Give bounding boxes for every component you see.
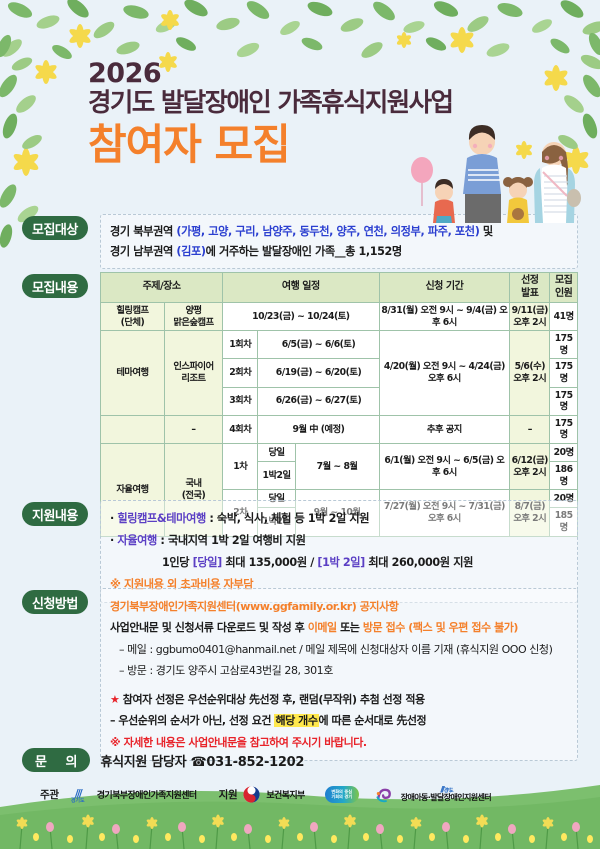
cell-free-1-count-b: 186명 (550, 462, 578, 490)
label-recruit-target-wrap: 모집대상 (22, 214, 100, 240)
support-overnight-amount: 최대 260,000원 지원 (365, 556, 473, 569)
cell-theme-session-4-count: 175명 (550, 415, 578, 443)
support-line-1-program: 힐링캠프&테마여행 (117, 512, 206, 525)
th-capacity-l2: 인원 (555, 288, 572, 299)
th-announcement-l1: 선정 (521, 275, 538, 286)
apply-priority-line: – 우선순위의 순서가 아닌, 선정 요건 해당 개수에 따른 순서대로 先선정 (110, 710, 568, 731)
table-row-healing-camp: 힐링캠프 (단체) 양평 맑은숲캠프 10/23(금) ~ 10/24(토) 8… (101, 303, 578, 331)
cell-theme-session-4-no: 4회차 (223, 415, 258, 443)
label-recruit-content: 모집내용 (22, 274, 88, 298)
th-apply-period: 신청 기간 (379, 273, 510, 303)
apply-priority-highlight: 해당 개수 (274, 714, 318, 727)
cell-theme-session-2-schedule: 6/19(금) ~ 6/20(토) (258, 359, 379, 387)
cell-free-1-announce: 6/12(금) 오후 2시 (510, 444, 550, 490)
cell-healing-schedule: 10/23(금) ~ 10/24(토) (223, 303, 379, 331)
cell-theme-name: 테마여행 (101, 331, 165, 416)
apply-email-line: – 메일 : ggbumo0401@hanmail.net / 메일 제목에 신… (110, 639, 568, 660)
th-capacity: 모집 인원 (550, 273, 578, 303)
cell-free-1-type-b: 1박2일 (258, 462, 295, 490)
footer-support-org: 보건복지부 (266, 788, 304, 801)
table-row-theme-4: – 4회차 9월 中 (예정) 추후 공지 – 175명 (101, 415, 578, 443)
poster-title-block: 2026 경기도 발달장애인 가족휴식지원사업 참여자 모집 (88, 60, 452, 170)
support-line-2-detail: : 국내지역 1박 2일 여행비 지원 (157, 534, 306, 547)
healing-name-l2: (단체) (121, 317, 145, 328)
recruit-table: 주제/장소 여행 일정 신청 기간 선정 발표 모집 인원 (100, 272, 578, 537)
target-north-cities: (가평, 고양, 구리, 남양주, 동두천, 양주, 연천, 의정부, 파주, … (176, 225, 479, 238)
free-1-announce-l1: 6/12(금) (512, 455, 548, 466)
label-contact: 문 의 (22, 748, 90, 772)
cell-theme-period: 4/20(월) 오전 9시 ~ 4/24(금) 오후 6시 (379, 331, 510, 416)
footer-support-label: 지원 (219, 787, 238, 802)
th-capacity-l1: 모집 (555, 275, 572, 286)
apply-visit-line: – 방문 : 경기도 양주시 고삼로43번길 28, 301호 (110, 660, 568, 681)
cell-theme-4-place: – (164, 415, 222, 443)
apply-process-visit: 방문 접수 (팩스 및 우편 접수 불가) (363, 621, 518, 634)
label-support-content: 지원내용 (22, 502, 88, 526)
healing-place-l2: 맑은숲캠프 (173, 317, 213, 328)
cell-theme-session-3-schedule: 6/26(금) ~ 6/27(토) (258, 387, 379, 415)
apply-website-line[interactable]: 경기북부장애인가족지원센터(www.ggfamily.or.kr) 공지사항 (110, 596, 568, 617)
cell-theme-session-1-schedule: 6/5(금) ~ 6/6(토) (258, 331, 379, 359)
table-header-row: 주제/장소 여행 일정 신청 기간 선정 발표 모집 인원 (101, 273, 578, 303)
gyeonggi-logo-sub: 경기도 (65, 799, 91, 804)
apply-process-prefix: 사업안내문 및 신청서류 다운로드 및 작성 후 (110, 621, 308, 634)
title-year: 2026 (88, 60, 452, 88)
target-south-cities: (김포) (176, 245, 205, 258)
apply-priority-prefix: – 우선순위의 순서가 아닌, 선정 요건 (110, 714, 274, 727)
support-line-3: 1인당 [당일] 최대 135,000원 / [1박 2일] 최대 260,00… (110, 552, 568, 574)
cell-theme-session-1-count: 175명 (550, 331, 578, 359)
cell-theme-announce: 5/6(수) 오후 2시 (510, 331, 550, 416)
target-north-suffix: 및 (479, 225, 492, 238)
contact-info: 휴식지원 담당자 ☎031-852-1202 (100, 751, 304, 770)
cell-theme-session-2-count: 175명 (550, 359, 578, 387)
section-contact: 문 의 휴식지원 담당자 ☎031-852-1202 (22, 748, 304, 772)
cell-healing-announce: 9/11(금) 오후 2시 (510, 303, 550, 331)
recruit-target-line-1: 경기 북부권역 (가평, 고양, 구리, 남양주, 동두천, 양주, 연천, 의… (110, 222, 568, 242)
footer-host-org: 경기북부장애인가족지원센터 (97, 788, 197, 801)
cell-free-1-type-a: 당일 (258, 444, 295, 462)
table-row-theme-1: 테마여행 인스파이어 리조트 1회차 6/5(금) ~ 6/6(토) 4/20(… (101, 331, 578, 359)
apply-process-line: 사업안내문 및 신청서류 다운로드 및 작성 후 이메일 또는 방문 접수 (팩… (110, 617, 568, 638)
support-overnight-tag: [1박 2일] (317, 556, 364, 569)
support-line-2: · 자율여행 : 국내지역 1박 2일 여행비 지원 (110, 530, 568, 552)
cell-theme-4-period: 추후 공지 (379, 415, 510, 443)
cell-free-1-schedule: 7월 ~ 8월 (295, 444, 379, 490)
cell-theme-4-name (101, 415, 165, 443)
support-line-2-program: 자율여행 (117, 534, 157, 547)
theme-announce-l1: 5/6(수) (515, 361, 545, 372)
cell-healing-place: 양평 맑은숲캠프 (164, 303, 222, 331)
cell-free-1-count-a: 20명 (550, 444, 578, 462)
apply-selection-line: ★ 참여자 선정은 우선순위대상 先선정 후, 랜덤(무작위) 추첨 선정 적용 (110, 689, 568, 710)
apply-process-email: 이메일 (308, 621, 337, 634)
cell-theme-session-3-no: 3회차 (223, 387, 258, 415)
cell-free-1-no: 1차 (223, 444, 258, 490)
footer-partner-block: /// 경기도 장애아동·발달장애인지원센터 (401, 786, 491, 802)
support-bullet-1: · (110, 512, 114, 525)
label-apply-method: 신청방법 (22, 590, 88, 614)
label-recruit-target: 모집대상 (22, 216, 88, 240)
label-apply-wrap: 신청방법 (22, 588, 100, 614)
apply-divider (110, 682, 568, 689)
cell-healing-name: 힐링캠프 (단체) (101, 303, 165, 331)
footer-host-label: 주관 (40, 787, 59, 802)
support-bullet-2: · (110, 534, 114, 547)
slogan-line-2: 기회의 경기 (331, 794, 352, 799)
section-apply-method: 신청방법 경기북부장애인가족지원센터(www.ggfamily.or.kr) 공… (22, 588, 578, 761)
support-daytrip-amount: 최대 135,000원 / (222, 556, 318, 569)
support-line-1-detail: : 숙박, 식사, 체험 등 1박 2일 지원 (206, 512, 369, 525)
healing-name-l1: 힐링캠프 (116, 305, 148, 316)
gyeonggi-logo-icon: /// 경기도 (65, 784, 91, 804)
cell-healing-period: 8/31(월) 오전 9시 ~ 9/4(금) 오후 6시 (379, 303, 510, 331)
cell-healing-count: 41명 (550, 303, 578, 331)
apply-selection-text: 참여자 선정은 우선순위대상 先선정 후, 랜덤(무작위) 추첨 선정 적용 (119, 693, 424, 706)
th-theme-place: 주제/장소 (101, 273, 223, 303)
th-announcement: 선정 발표 (510, 273, 550, 303)
free-1-announce-l2: 오후 2시 (513, 467, 546, 478)
cell-theme-session-3-count: 175명 (550, 387, 578, 415)
section-recruit-content: 모집내용 주제/장소 여행 일정 신청 기간 선정 발표 (22, 272, 578, 537)
healing-announce-l2: 오후 2시 (513, 317, 546, 328)
support-line-1: · 힐링캠프&테마여행 : 숙박, 식사, 체험 등 1박 2일 지원 (110, 508, 568, 530)
star-icon: ★ (110, 693, 119, 706)
poster-root: 2026 경기도 발달장애인 가족휴식지원사업 참여자 모집 (0, 0, 600, 849)
theme-announce-l2: 오후 2시 (513, 373, 546, 384)
apply-method-body: 경기북부장애인가족지원센터(www.ggfamily.or.kr) 공지사항 사… (100, 588, 578, 761)
taeguk-icon (243, 786, 260, 803)
healing-announce-l1: 9/11(금) (512, 305, 548, 316)
cell-theme-place: 인스파이어 리조트 (164, 331, 222, 416)
cell-theme-4-announce: – (510, 415, 550, 443)
cell-free-1-period: 6/1(월) 오전 9시 ~ 6/5(금) 오후 6시 (379, 444, 510, 490)
target-south-prefix: 경기 남부권역 (110, 245, 176, 258)
recruit-content-body: 주제/장소 여행 일정 신청 기간 선정 발표 모집 인원 (100, 272, 578, 537)
cell-theme-session-4-schedule: 9월 中 (예정) (258, 415, 379, 443)
theme-place-l1: 인스파이어 (173, 361, 213, 372)
healing-place-l1: 양평 (185, 305, 201, 316)
free-place-l1: 국내 (185, 478, 201, 489)
theme-place-l2: 리조트 (181, 373, 205, 384)
footer-partner-org: 장애아동·발달장애인지원센터 (401, 794, 491, 802)
footer-logo-band: 주관 /// 경기도 경기북부장애인가족지원센터 지원 보건복지부 변화의 중심… (0, 781, 600, 807)
table-row-free-1-day: 자율여행 국내 (전국) 1차 당일 7월 ~ 8월 6/1(월) 오전 9시 … (101, 444, 578, 462)
support-perperson: 1인당 (162, 556, 193, 569)
cell-theme-session-1-no: 1회차 (223, 331, 258, 359)
th-travel-schedule: 여행 일정 (223, 273, 379, 303)
target-north-prefix: 경기 북부권역 (110, 225, 176, 238)
cell-theme-session-2-no: 2회차 (223, 359, 258, 387)
label-support-wrap: 지원내용 (22, 500, 100, 526)
title-sub: 참여자 모집 (88, 121, 452, 169)
recruit-target-line-2: 경기 남부권역 (김포)에 거주하는 발달장애인 가족__총 1,152명 (110, 242, 568, 262)
label-recruit-content-wrap: 모집내용 (22, 272, 100, 298)
apply-priority-suffix: 에 따른 순서대로 先선정 (319, 714, 427, 727)
support-daytrip-tag: [당일] (193, 556, 222, 569)
title-main: 경기도 발달장애인 가족휴식지원사업 (88, 88, 452, 120)
swirl-logo-icon (375, 786, 395, 803)
gyeonggi-slogan-badge: 변화의 중심 기회의 경기 (325, 786, 359, 803)
target-south-suffix: 에 거주하는 발달장애인 가족__총 1,152명 (206, 245, 402, 258)
apply-process-or: 또는 (337, 621, 363, 634)
th-announcement-l2: 발표 (521, 288, 538, 299)
